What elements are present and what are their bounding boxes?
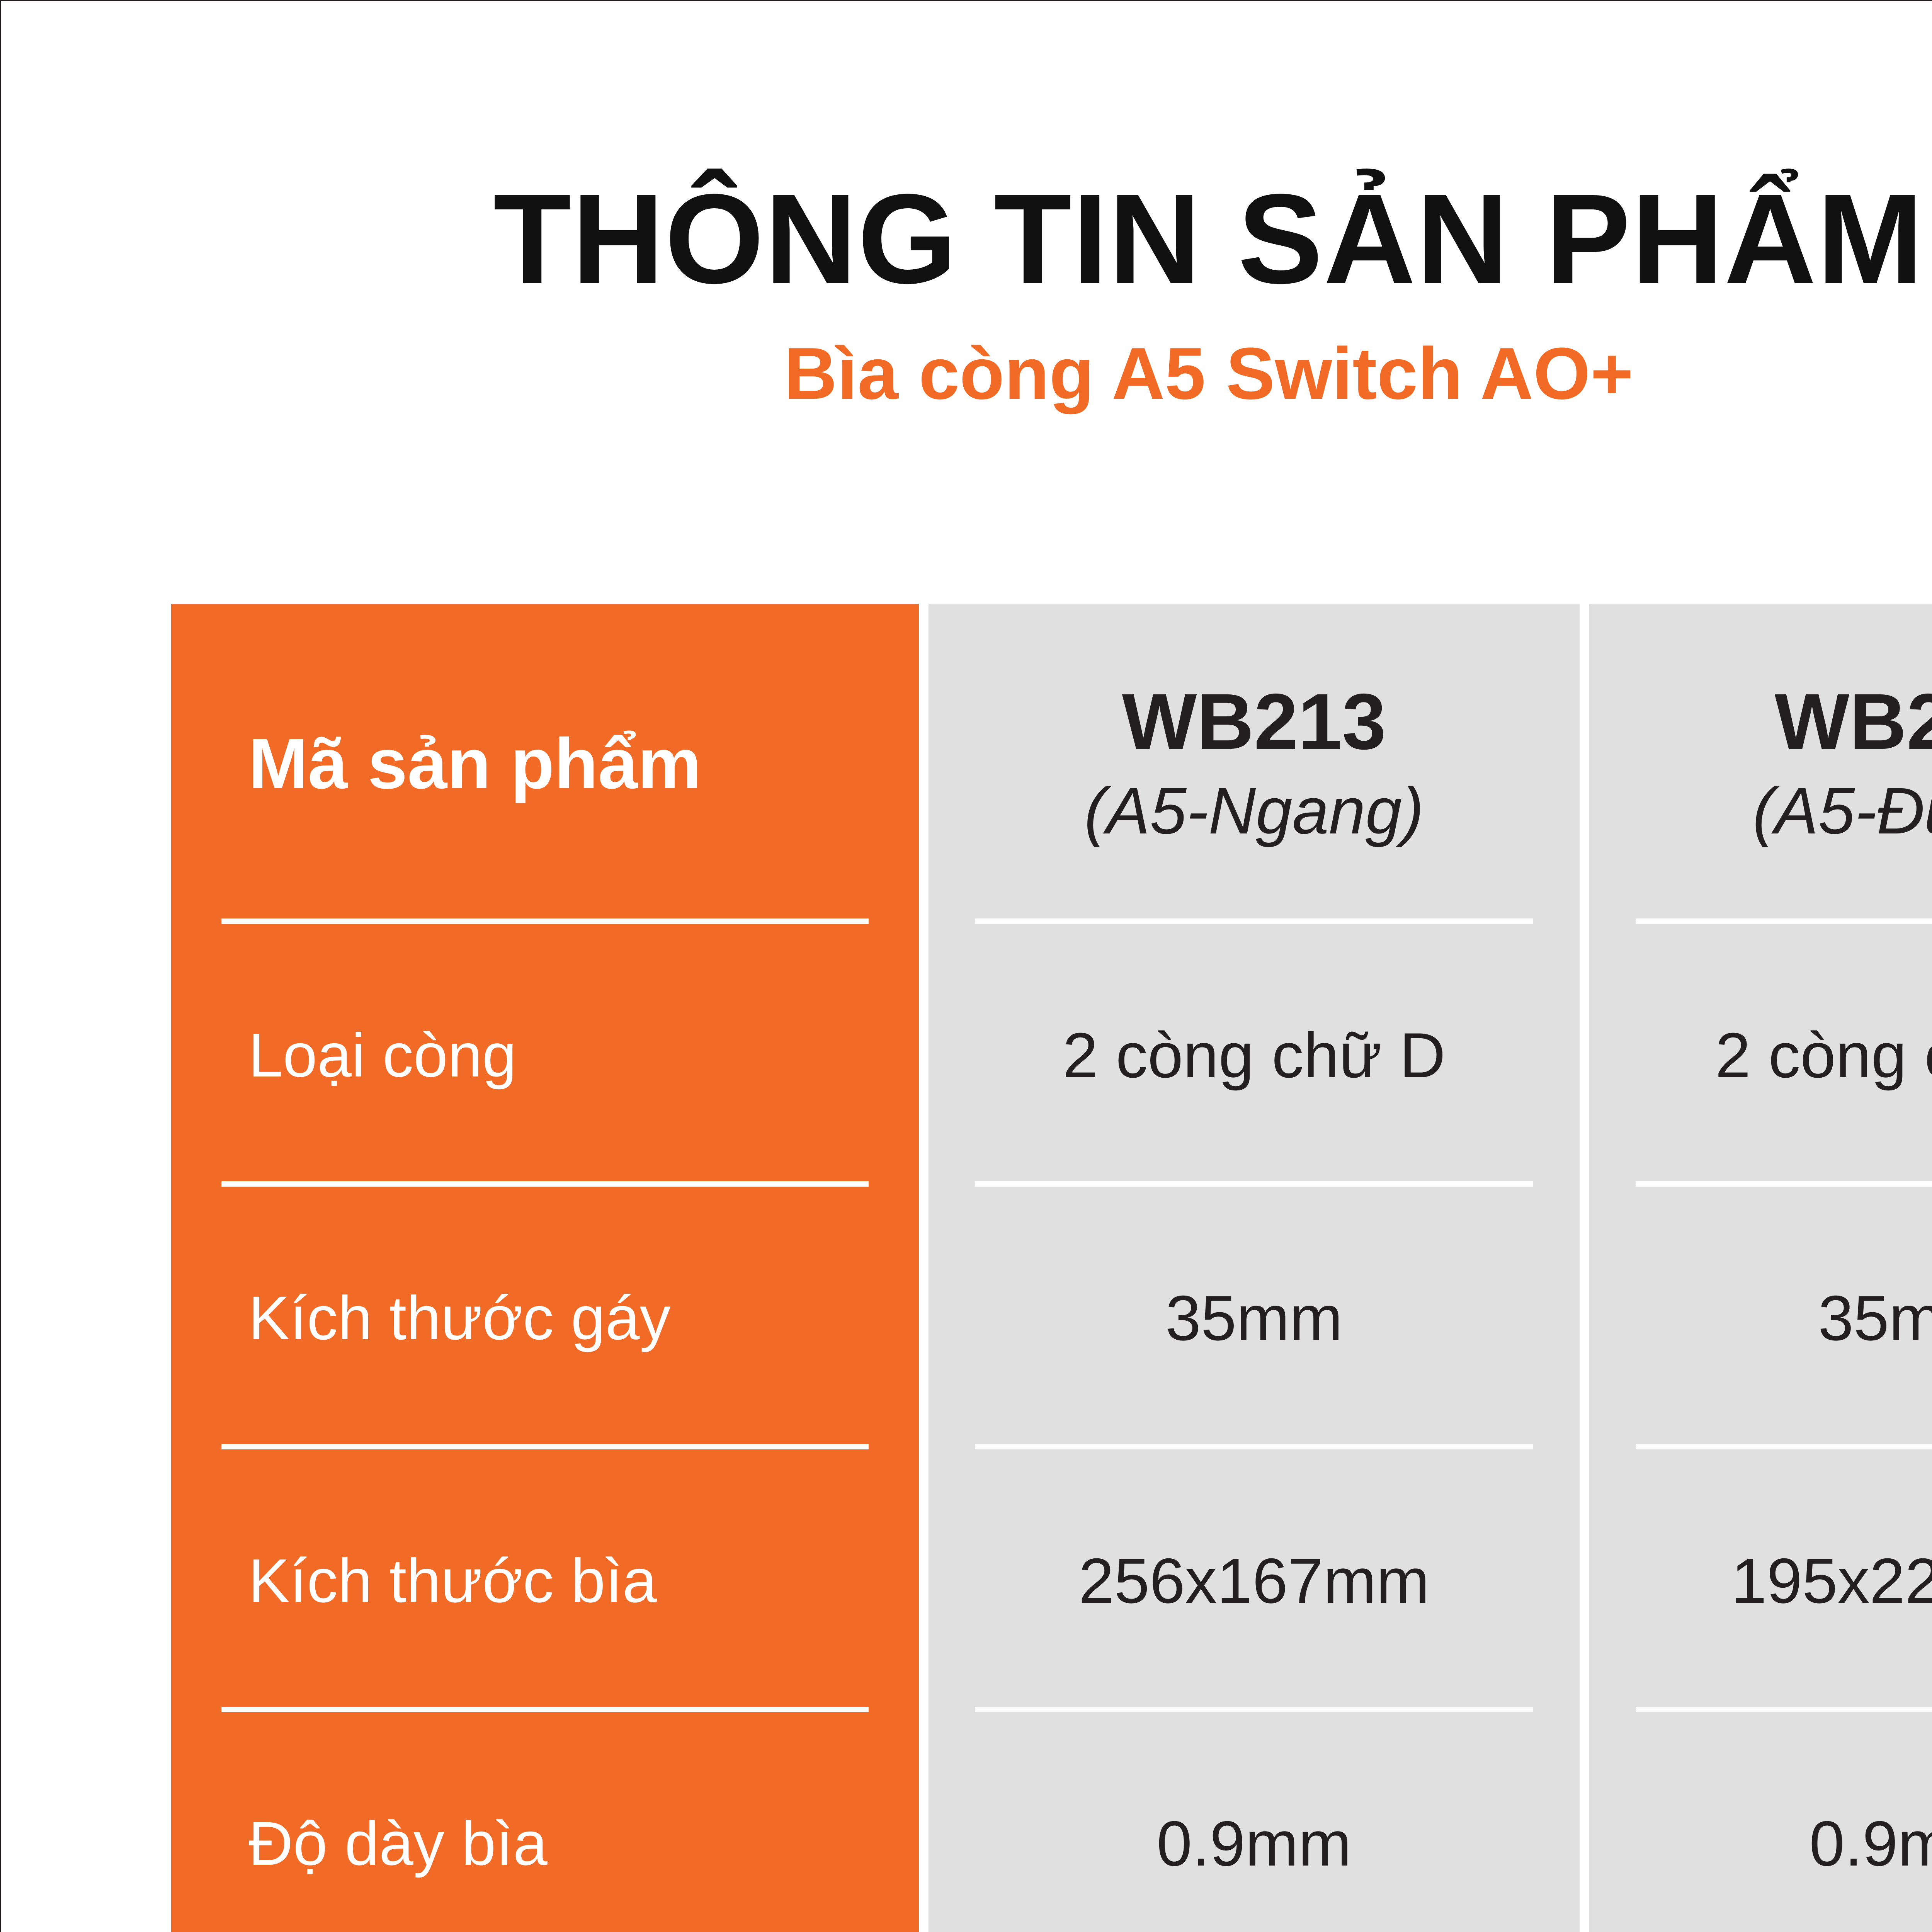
spec-value-cell: 0.9mm: [929, 1712, 1580, 1932]
page-subtitle: Bìa còng A5 Switch AO+: [1, 333, 1932, 414]
spec-header-label: Mã sản phẩm: [248, 723, 701, 805]
spec-value: 35mm: [1818, 1280, 1932, 1356]
row-separator: [975, 1707, 1533, 1712]
row-separator: [221, 1444, 869, 1449]
spec-value-cell: 256x167mm: [929, 1449, 1580, 1712]
spec-row-label: Loại còng: [248, 1018, 517, 1092]
spec-value-cell: 35mm: [929, 1187, 1580, 1449]
spec-header-value-cell: WB214 (A5-Đứng): [1589, 604, 1932, 924]
spec-row-label: Kích thước gáy: [248, 1281, 671, 1355]
row-separator: [1636, 1444, 1932, 1449]
spec-row-label-cell: Kích thước gáy: [171, 1187, 919, 1449]
row-separator: [221, 1707, 869, 1712]
spec-value: 2 còng chữ D: [1715, 1017, 1932, 1094]
spec-row-label: Độ dày bìa: [248, 1806, 548, 1881]
spec-value: 0.9mm: [1809, 1805, 1932, 1882]
row-separator: [975, 1444, 1533, 1449]
spec-value-cell: 2 còng chữ D: [929, 924, 1580, 1187]
row-separator: [1636, 1707, 1932, 1712]
row-separator: [1636, 1181, 1932, 1187]
spec-value-cell: 195x227mm: [1589, 1449, 1932, 1712]
spec-header-value-cell: WB213 (A5-Ngang): [929, 604, 1580, 924]
product-code: WB213: [1122, 677, 1386, 766]
spec-header-label-cell: Mã sản phẩm: [171, 604, 919, 924]
spec-row-label-cell: Độ dày bìa: [171, 1712, 919, 1932]
spec-value: 2 còng chữ D: [1063, 1017, 1446, 1094]
product-spec-sheet: THÔNG TIN SẢN PHẨM Bìa còng A5 Switch AO…: [0, 0, 1932, 1932]
spec-value-cell: 0.9mm: [1589, 1712, 1932, 1932]
spec-value-column-wb213: WB213 (A5-Ngang) 2 còng chữ D 35mm 256x1…: [929, 604, 1580, 1932]
column-gap: [919, 604, 929, 1932]
spec-row-label: Kích thước bìa: [248, 1544, 657, 1618]
row-separator: [975, 1181, 1533, 1187]
spec-value: 0.9mm: [1156, 1805, 1351, 1882]
row-separator: [1636, 918, 1932, 924]
spec-value-cell: 2 còng chữ D: [1589, 924, 1932, 1187]
spec-row-label-cell: Kích thước bìa: [171, 1449, 919, 1712]
spec-value: 195x227mm: [1731, 1543, 1932, 1619]
page-header: THÔNG TIN SẢN PHẨM Bìa còng A5 Switch AO…: [1, 167, 1932, 414]
row-separator: [221, 918, 869, 924]
spec-label-column: Mã sản phẩm Loại còng Kích thước gáy Kíc…: [171, 604, 919, 1932]
page-title: THÔNG TIN SẢN PHẨM: [1, 167, 1932, 310]
specification-table: Mã sản phẩm Loại còng Kích thước gáy Kíc…: [171, 604, 1932, 1932]
row-separator: [221, 1181, 869, 1187]
product-variant: (A5-Đứng): [1753, 772, 1932, 850]
product-code: WB214: [1775, 677, 1932, 766]
row-separator: [975, 918, 1533, 924]
spec-value: 256x167mm: [1079, 1543, 1430, 1619]
product-variant: (A5-Ngang): [1084, 772, 1424, 850]
spec-value-column-wb214: WB214 (A5-Đứng) 2 còng chữ D 35mm 195x22…: [1589, 604, 1932, 1932]
spec-value: 35mm: [1165, 1280, 1342, 1356]
spec-row-label-cell: Loại còng: [171, 924, 919, 1187]
column-gap: [1580, 604, 1589, 1932]
spec-value-cell: 35mm: [1589, 1187, 1932, 1449]
